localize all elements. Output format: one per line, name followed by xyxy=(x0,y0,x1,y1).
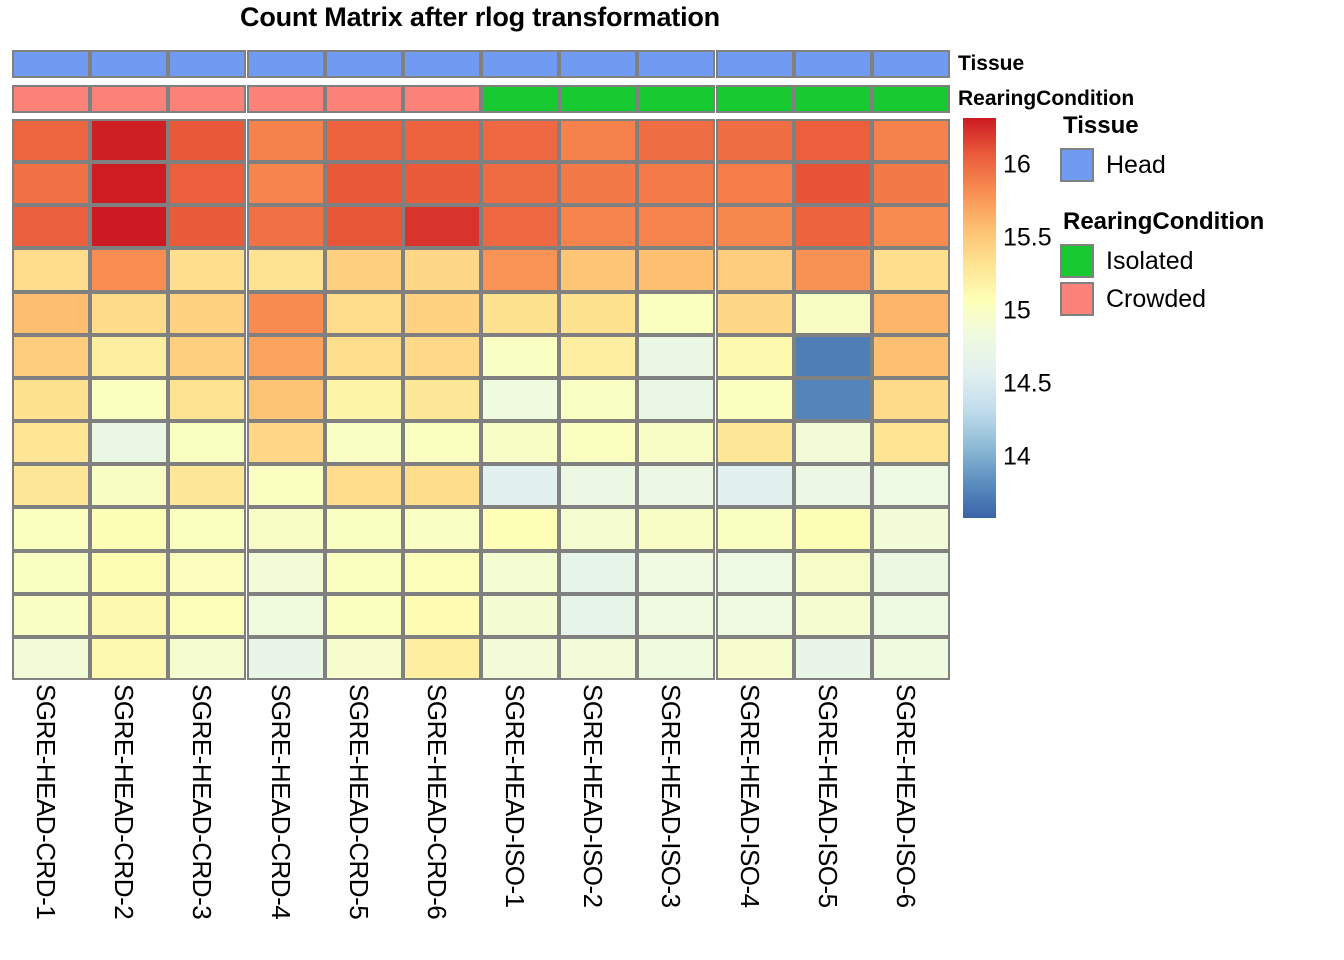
heatmap-cell xyxy=(716,378,794,421)
annotation-cell-rearingcondition xyxy=(481,85,559,113)
heatmap-cell xyxy=(403,594,481,637)
column-label: SGRE-HEAD-ISO-3 xyxy=(655,684,686,908)
column-label: SGRE-HEAD-ISO-6 xyxy=(890,684,921,908)
heatmap-cell xyxy=(481,162,559,205)
heatmap-cell xyxy=(559,378,637,421)
annotation-cell-rearingcondition xyxy=(168,85,246,113)
heatmap-cell xyxy=(481,507,559,550)
column-label: SGRE-HEAD-CRD-5 xyxy=(343,684,374,919)
heatmap-cell xyxy=(168,162,246,205)
heatmap-cell xyxy=(637,205,715,248)
annotation-cell-tissue xyxy=(403,50,481,78)
annotation-bar-tissue xyxy=(12,50,950,78)
heatmap-cell xyxy=(168,594,246,637)
heatmap-cell xyxy=(247,119,325,162)
annotation-cell-rearingcondition xyxy=(12,85,90,113)
heatmap-cell xyxy=(716,335,794,378)
legend-label-isolated: Isolated xyxy=(1106,244,1194,278)
heatmap-cell xyxy=(794,464,872,507)
heatmap-cell xyxy=(12,637,90,680)
heatmap-cell xyxy=(559,464,637,507)
heatmap-cell xyxy=(90,335,168,378)
column-label: SGRE-HEAD-ISO-4 xyxy=(734,684,765,908)
annotation-cell-tissue xyxy=(872,50,950,78)
heatmap-cell xyxy=(716,594,794,637)
column-label: SGRE-HEAD-CRD-4 xyxy=(265,684,296,919)
heatmap-cell xyxy=(716,421,794,464)
heatmap-cell xyxy=(325,507,403,550)
heatmap-cell xyxy=(90,162,168,205)
heatmap-cell xyxy=(325,292,403,335)
legend-label-head: Head xyxy=(1106,148,1166,182)
heatmap-cell xyxy=(872,551,950,594)
heatmap-cell xyxy=(325,421,403,464)
heatmap-cell xyxy=(559,248,637,291)
heatmap-cell xyxy=(12,292,90,335)
heatmap-cell xyxy=(325,335,403,378)
column-label: SGRE-HEAD-CRD-3 xyxy=(186,684,217,919)
annotation-bar-rearingcondition xyxy=(12,85,950,113)
heatmap-cell xyxy=(481,594,559,637)
heatmap-cell xyxy=(12,205,90,248)
annotation-cell-tissue xyxy=(12,50,90,78)
annotation-cell-rearingcondition xyxy=(325,85,403,113)
heatmap-cell xyxy=(12,162,90,205)
annotation-cell-rearingcondition xyxy=(247,85,325,113)
heatmap-cell xyxy=(325,248,403,291)
heatmap-cell xyxy=(325,551,403,594)
heatmap-cell xyxy=(168,119,246,162)
heatmap-cell xyxy=(12,421,90,464)
heatmap-cell xyxy=(637,378,715,421)
heatmap-cell xyxy=(559,594,637,637)
heatmap-cell xyxy=(559,551,637,594)
heatmap-cell xyxy=(403,637,481,680)
heatmap-cell xyxy=(325,205,403,248)
heatmap-grid xyxy=(12,119,950,680)
heatmap-cell xyxy=(481,378,559,421)
annotation-cell-rearingcondition xyxy=(637,85,715,113)
heatmap-cell xyxy=(403,378,481,421)
page-title: Count Matrix after rlog transformation xyxy=(0,2,960,33)
heatmap-cell xyxy=(637,551,715,594)
heatmap-cell xyxy=(716,205,794,248)
column-label: SGRE-HEAD-ISO-1 xyxy=(499,684,530,908)
heatmap-cell xyxy=(168,551,246,594)
heatmap-figure: Count Matrix after rlog transformation T… xyxy=(0,0,1344,960)
heatmap-cell xyxy=(794,421,872,464)
heatmap-cell xyxy=(247,292,325,335)
heatmap-cell xyxy=(794,335,872,378)
heatmap-cell xyxy=(403,205,481,248)
heatmap-cell xyxy=(403,335,481,378)
heatmap-cell xyxy=(872,507,950,550)
heatmap-cell xyxy=(12,551,90,594)
annotation-cell-rearingcondition xyxy=(403,85,481,113)
heatmap-cell xyxy=(637,464,715,507)
colorbar-gradient xyxy=(963,118,996,518)
heatmap-cell xyxy=(12,464,90,507)
legend-title-rearingcondition: RearingCondition xyxy=(1063,208,1264,236)
heatmap-cell xyxy=(12,594,90,637)
heatmap-cell xyxy=(637,162,715,205)
heatmap-cell xyxy=(481,248,559,291)
heatmap-cell xyxy=(90,637,168,680)
annotation-label-rearingcondition: RearingCondition xyxy=(958,85,1134,113)
heatmap-cell xyxy=(559,421,637,464)
heatmap-cell xyxy=(168,421,246,464)
heatmap-cell xyxy=(247,162,325,205)
heatmap-cell xyxy=(481,335,559,378)
heatmap-cell xyxy=(403,162,481,205)
heatmap-cell xyxy=(168,464,246,507)
heatmap-cell xyxy=(403,421,481,464)
colorbar-tick-label: 14 xyxy=(1003,442,1031,471)
heatmap-cell xyxy=(403,464,481,507)
heatmap-cell xyxy=(872,162,950,205)
heatmap-cell xyxy=(247,248,325,291)
heatmap-cell xyxy=(872,292,950,335)
heatmap-cell xyxy=(481,421,559,464)
heatmap-cell xyxy=(168,378,246,421)
annotation-cell-tissue xyxy=(716,50,794,78)
heatmap-cell xyxy=(325,378,403,421)
legend-swatch-isolated[interactable] xyxy=(1060,244,1094,278)
heatmap-cell xyxy=(325,119,403,162)
heatmap-cell xyxy=(559,205,637,248)
annotation-cell-tissue xyxy=(637,50,715,78)
heatmap-cell xyxy=(247,421,325,464)
heatmap-cell xyxy=(247,594,325,637)
heatmap-cell xyxy=(794,378,872,421)
annotation-cell-tissue xyxy=(90,50,168,78)
heatmap-cell xyxy=(247,507,325,550)
annotation-cell-tissue xyxy=(481,50,559,78)
heatmap-cell xyxy=(637,637,715,680)
heatmap-cell xyxy=(637,507,715,550)
column-labels: SGRE-HEAD-CRD-1SGRE-HEAD-CRD-2SGRE-HEAD-… xyxy=(12,684,950,960)
heatmap-cell xyxy=(716,248,794,291)
heatmap-cell xyxy=(247,378,325,421)
heatmap-cell xyxy=(247,637,325,680)
annotation-cell-tissue xyxy=(559,50,637,78)
heatmap-cell xyxy=(90,507,168,550)
heatmap-cell xyxy=(12,248,90,291)
heatmap-cell xyxy=(716,464,794,507)
heatmap-cell xyxy=(872,119,950,162)
colorbar-tick-label: 15 xyxy=(1003,296,1031,325)
annotation-cell-tissue xyxy=(794,50,872,78)
heatmap-cell xyxy=(90,248,168,291)
legend-label-crowded: Crowded xyxy=(1106,282,1206,316)
heatmap-cell xyxy=(872,205,950,248)
annotation-cell-tissue xyxy=(168,50,246,78)
heatmap-cell xyxy=(872,248,950,291)
legend-swatch-crowded[interactable] xyxy=(1060,282,1094,316)
heatmap-cell xyxy=(247,551,325,594)
annotation-cell-rearingcondition xyxy=(559,85,637,113)
heatmap-cell xyxy=(12,507,90,550)
heatmap-cell xyxy=(247,464,325,507)
heatmap-cell xyxy=(716,162,794,205)
heatmap-cell xyxy=(90,378,168,421)
heatmap-cell xyxy=(794,637,872,680)
colorbar-tick-label: 14.5 xyxy=(1003,369,1052,398)
heatmap-cell xyxy=(872,594,950,637)
heatmap-cell xyxy=(403,292,481,335)
annotation-cell-rearingcondition xyxy=(794,85,872,113)
heatmap-cell xyxy=(481,551,559,594)
heatmap-cell xyxy=(637,335,715,378)
heatmap-cell xyxy=(12,335,90,378)
column-label: SGRE-HEAD-CRD-6 xyxy=(421,684,452,919)
heatmap-cell xyxy=(637,421,715,464)
heatmap-cell xyxy=(168,507,246,550)
heatmap-cell xyxy=(794,292,872,335)
heatmap-cell xyxy=(481,119,559,162)
heatmap-cell xyxy=(794,119,872,162)
heatmap-cell xyxy=(716,292,794,335)
heatmap-cell xyxy=(559,507,637,550)
heatmap-cell xyxy=(403,507,481,550)
heatmap-cell xyxy=(325,464,403,507)
heatmap-cell xyxy=(12,378,90,421)
heatmap-cell xyxy=(637,594,715,637)
heatmap-cell xyxy=(637,292,715,335)
heatmap-cell xyxy=(168,205,246,248)
column-label: SGRE-HEAD-ISO-5 xyxy=(812,684,843,908)
column-label: SGRE-HEAD-CRD-2 xyxy=(108,684,139,919)
heatmap-cell xyxy=(872,464,950,507)
heatmap-cell xyxy=(90,594,168,637)
annotation-cell-rearingcondition xyxy=(90,85,168,113)
heatmap-cell xyxy=(794,248,872,291)
colorbar xyxy=(963,118,996,518)
heatmap-cell xyxy=(794,205,872,248)
heatmap-cell xyxy=(559,637,637,680)
column-label: SGRE-HEAD-CRD-1 xyxy=(30,684,61,919)
heatmap-cell xyxy=(325,637,403,680)
heatmap-cell xyxy=(403,119,481,162)
heatmap-cell xyxy=(872,335,950,378)
heatmap-cell xyxy=(559,292,637,335)
colorbar-tick-label: 15.5 xyxy=(1003,223,1052,252)
annotation-label-tissue: Tissue xyxy=(958,50,1024,78)
heatmap-cell xyxy=(168,637,246,680)
heatmap-cell xyxy=(559,162,637,205)
heatmap-cell xyxy=(481,205,559,248)
heatmap-cell xyxy=(559,335,637,378)
heatmap-cell xyxy=(90,292,168,335)
heatmap-cell xyxy=(12,119,90,162)
heatmap-cell xyxy=(872,378,950,421)
legend-swatch-head[interactable] xyxy=(1060,148,1094,182)
annotation-cell-rearingcondition xyxy=(872,85,950,113)
heatmap-cell xyxy=(168,292,246,335)
heatmap-cell xyxy=(794,507,872,550)
column-label: SGRE-HEAD-ISO-2 xyxy=(577,684,608,908)
heatmap-cell xyxy=(403,248,481,291)
heatmap-cell xyxy=(168,335,246,378)
heatmap-cell xyxy=(90,119,168,162)
heatmap-cell xyxy=(90,205,168,248)
heatmap-cell xyxy=(325,594,403,637)
heatmap-cell xyxy=(637,119,715,162)
heatmap-cell xyxy=(716,637,794,680)
heatmap-cell xyxy=(872,421,950,464)
heatmap-cell xyxy=(90,551,168,594)
heatmap-cell xyxy=(794,162,872,205)
heatmap-cell xyxy=(90,464,168,507)
heatmap-cell xyxy=(716,551,794,594)
heatmap-cell xyxy=(247,205,325,248)
heatmap-cell xyxy=(794,551,872,594)
heatmap-cell xyxy=(716,507,794,550)
annotation-cell-tissue xyxy=(325,50,403,78)
heatmap-cell xyxy=(168,248,246,291)
heatmap-cell xyxy=(872,637,950,680)
heatmap-cell xyxy=(325,162,403,205)
heatmap-cell xyxy=(90,421,168,464)
heatmap-cell xyxy=(794,594,872,637)
heatmap-cell xyxy=(481,464,559,507)
heatmap-cell xyxy=(559,119,637,162)
heatmap-cell xyxy=(481,637,559,680)
colorbar-tick-label: 16 xyxy=(1003,150,1031,179)
legend-title-tissue: Tissue xyxy=(1063,112,1139,140)
heatmap-cell xyxy=(637,248,715,291)
annotation-cell-tissue xyxy=(247,50,325,78)
heatmap-cell xyxy=(716,119,794,162)
annotation-cell-rearingcondition xyxy=(716,85,794,113)
heatmap-cell xyxy=(247,335,325,378)
heatmap-cell xyxy=(403,551,481,594)
heatmap-cell xyxy=(481,292,559,335)
